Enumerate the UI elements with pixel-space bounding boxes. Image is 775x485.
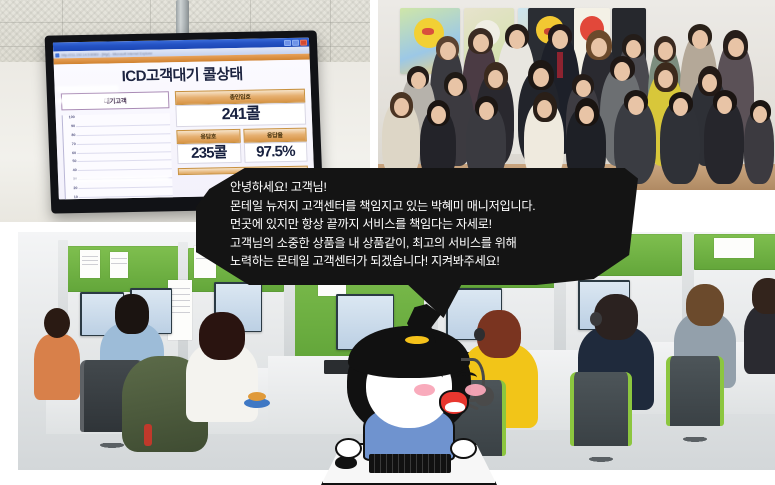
waiting-chart: 100 90 80 70 60 50 40 30 20 10 xyxy=(62,113,174,200)
mascot-hair-tie xyxy=(405,336,429,344)
y-tick: 20 xyxy=(73,186,77,190)
answer-rate-card: 응답율 97.5% xyxy=(243,127,308,163)
desk-item xyxy=(144,424,152,446)
chart-y-axis: 100 90 80 70 60 50 40 30 20 10 xyxy=(63,115,79,200)
dashboard-title: ICD고객대기 콜상태 xyxy=(60,66,305,87)
pinned-paper xyxy=(80,250,100,278)
greeting-line-5: 노력하는 몬테일 고객센터가 되겠습니다! 지켜봐주세요! xyxy=(230,252,618,271)
page-root: http://211.192.14.9:8080/ - [Mgr] - Micr… xyxy=(0,0,775,485)
desk-item xyxy=(248,392,266,401)
office-chair xyxy=(666,356,724,426)
call-agent xyxy=(744,278,775,374)
maximize-button[interactable] xyxy=(292,39,299,45)
answered-calls-value: 235콜 xyxy=(177,142,241,164)
waiting-chart-column: 대기고객 100 90 80 70 60 50 40 xyxy=(61,91,173,200)
answer-rate-label: 응답율 xyxy=(243,127,307,142)
mascot-eye-right xyxy=(457,372,477,383)
mascot-cheek-right xyxy=(465,384,486,396)
mascot-cheek-left xyxy=(414,384,435,396)
mascot-eye-left xyxy=(423,372,443,383)
mascot-mouth xyxy=(439,390,469,416)
mascot-tongue xyxy=(445,402,465,412)
total-calls-card: 총인입호 241콜 xyxy=(175,88,306,126)
y-tick: 80 xyxy=(71,133,75,137)
y-tick: 50 xyxy=(72,159,76,163)
y-tick: 30 xyxy=(73,177,77,181)
answered-calls-card: 응답호 235콜 xyxy=(176,128,241,164)
waiting-customers-label: 대기고객 xyxy=(61,91,170,110)
call-center-agent-mascot xyxy=(311,300,507,485)
y-tick: 40 xyxy=(73,168,77,172)
pinned-paper xyxy=(110,252,128,278)
mascot-keyboard xyxy=(369,454,451,473)
answered-calls-label: 응답호 xyxy=(176,128,240,143)
mascot-hand-right xyxy=(450,438,477,459)
total-calls-value: 241콜 xyxy=(175,102,306,126)
greeting-line-1: 안녕하세요! 고객님! xyxy=(230,178,618,197)
y-tick: 100 xyxy=(69,115,75,119)
answer-rate-value: 97.5% xyxy=(243,141,307,163)
mascot-hand-left xyxy=(335,438,362,459)
ie-logo-icon xyxy=(55,53,59,57)
mascot-bangs xyxy=(348,326,470,378)
staff-group-photo xyxy=(378,0,775,190)
greeting-line-3: 먼곳에 있지만 항상 끝까지 서비스를 책임다는 자세로! xyxy=(230,215,618,234)
y-tick: 90 xyxy=(71,124,75,128)
greeting-text: 안녕하세요! 고객님! 몬테일 뉴저지 고객센터를 책임지고 있는 박혜미 매니… xyxy=(230,178,618,271)
y-tick: 60 xyxy=(72,151,76,155)
y-tick: 10 xyxy=(74,195,78,199)
greeting-line-2: 몬테일 뉴저지 고객센터를 책임지고 있는 박혜미 매니저입니다. xyxy=(230,197,618,216)
minimize-button[interactable] xyxy=(284,39,291,45)
headset-icon xyxy=(590,312,602,326)
pinned-paper xyxy=(714,238,754,258)
greeting-line-4: 고객님의 소중한 상품을 내 상품같이, 최고의 서비스를 위해 xyxy=(230,234,618,253)
office-worker xyxy=(34,308,80,400)
office-chair xyxy=(570,372,632,446)
close-button[interactable] xyxy=(300,39,307,45)
y-tick: 70 xyxy=(72,142,76,146)
